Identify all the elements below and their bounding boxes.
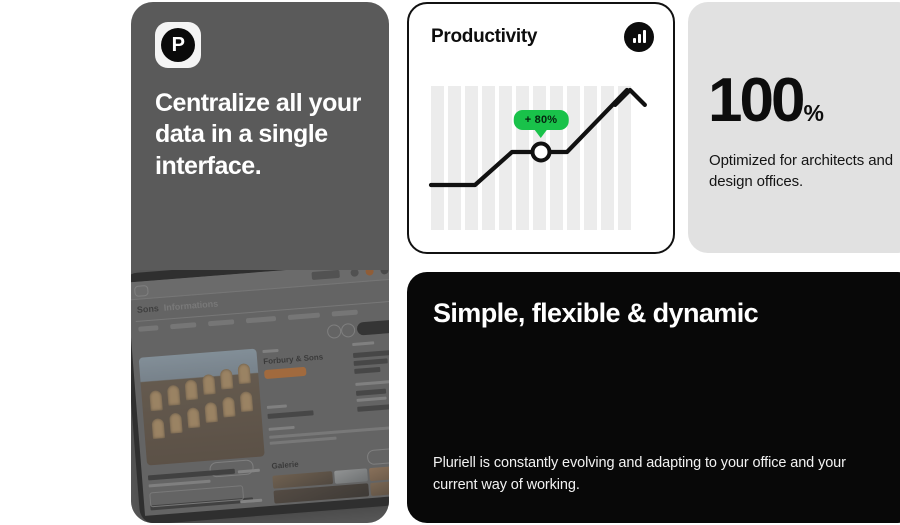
person-add-icon[interactable]	[341, 323, 356, 338]
card-simple-flexible: Simple, flexible & dynamic Pluriell is c…	[407, 272, 900, 523]
simple-heading: Simple, flexible & dynamic	[433, 296, 813, 331]
pluriell-logo-tile: P	[155, 22, 201, 68]
address-line-2	[354, 358, 388, 366]
app-topbar	[131, 270, 389, 301]
tablet-screen: SonsInformations	[131, 270, 389, 516]
card-centralize: P Centralize all your data in a single i…	[131, 2, 389, 523]
chart-bars	[431, 86, 631, 230]
topbar-icons	[350, 270, 389, 279]
project-title: Forbury & Sons	[263, 352, 324, 366]
gallery-image[interactable]	[369, 465, 389, 481]
client-name	[267, 410, 313, 419]
pluriell-logo-icon: P	[161, 28, 195, 62]
next-visit-value	[356, 389, 386, 396]
gallery-image[interactable]	[370, 480, 389, 496]
tablet-mockup-wrapper: SonsInformations	[131, 270, 389, 523]
share-icon[interactable]	[327, 324, 342, 339]
tab-planning[interactable]	[170, 322, 196, 329]
gallery-grid	[272, 465, 389, 504]
activity-list	[148, 463, 263, 514]
stakeholder-1	[357, 404, 389, 412]
tab-productivite[interactable]	[288, 313, 320, 320]
label-next-visit	[355, 379, 389, 386]
simple-body-text: Pluriell is constantly evolving and adap…	[433, 452, 873, 496]
tab-rapports[interactable]	[208, 319, 234, 326]
hundred-description: Optimized for architects and design offi…	[709, 150, 900, 193]
search-icon[interactable]	[350, 270, 359, 277]
avatar[interactable]	[380, 270, 389, 275]
project-hero-image	[139, 349, 265, 466]
label-stakeholders	[357, 397, 387, 402]
growth-badge: + 80%	[514, 110, 569, 130]
label-address	[352, 341, 374, 346]
project-info-panel: Forbury & Sons	[262, 337, 389, 456]
logo-letter: P	[172, 35, 185, 55]
centralize-heading: Centralize all your data in a single int…	[155, 88, 370, 182]
hundred-value: 100	[708, 66, 802, 135]
tab-documents[interactable]	[246, 316, 276, 323]
label-description	[269, 426, 295, 431]
status-badge	[264, 367, 307, 379]
back-chevron-icon[interactable]	[134, 285, 149, 297]
edit-button[interactable]	[357, 319, 389, 335]
card-productivity: Productivity + 80%	[407, 2, 675, 254]
label-type	[262, 349, 278, 353]
card-hundred-percent: 100% Optimized for architects and design…	[688, 2, 900, 253]
app-breadcrumb: SonsInformations	[136, 298, 218, 314]
gallery-image[interactable]	[334, 468, 368, 484]
chart-data-point	[533, 144, 550, 161]
timer-display	[311, 270, 340, 280]
label-clients	[267, 404, 287, 409]
gallery-heading: Galerie	[271, 460, 299, 471]
tab-fiche[interactable]	[138, 325, 158, 332]
breadcrumb-entity: Sons	[136, 303, 159, 315]
address-line-1	[353, 350, 389, 358]
poster-stage: P Centralize all your data in a single i…	[0, 0, 900, 525]
tab-finances[interactable]	[332, 310, 358, 317]
address-line-3	[354, 367, 380, 374]
app-actions	[329, 319, 389, 337]
notification-icon[interactable]	[365, 270, 374, 276]
tablet-device: SonsInformations	[131, 270, 389, 523]
breadcrumb-section: Informations	[163, 298, 218, 312]
add-button[interactable]	[367, 447, 389, 465]
hundred-number: 100%	[708, 70, 823, 132]
hundred-unit: %	[803, 100, 823, 126]
